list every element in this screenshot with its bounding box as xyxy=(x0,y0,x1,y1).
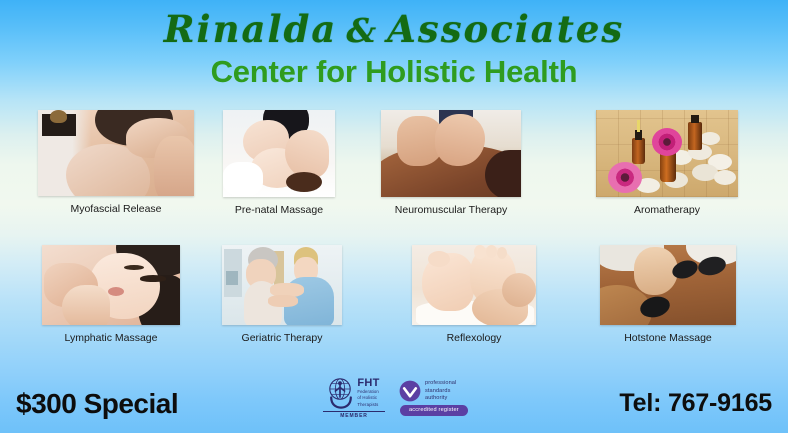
psa-line-2: standards xyxy=(425,388,456,396)
brand-name-second: Associates xyxy=(387,7,624,51)
service-card-aromatherapy[interactable]: Aromatherapy xyxy=(596,110,738,216)
brand-ampersand: & xyxy=(337,11,387,50)
psa-line-1: professional xyxy=(425,380,456,388)
services-row-2: Lymphatic Massage Geriatric Therapy xyxy=(0,239,788,374)
brand-subtitle: Center for Holistic Health xyxy=(0,53,788,92)
services-row-1: Myofascial Release Pre-natal Massage xyxy=(0,104,788,239)
fht-globe-hands-icon xyxy=(328,377,354,409)
services-grid: Myofascial Release Pre-natal Massage xyxy=(0,104,788,374)
pre-natal-massage-photo[interactable] xyxy=(223,110,335,197)
service-card-hotstone-massage[interactable]: Hotstone Massage xyxy=(600,245,736,344)
special-offer-price: $300 Special xyxy=(16,388,178,420)
brand-name-first: Rinalda xyxy=(164,7,338,51)
psa-accredited-badge: accredited register xyxy=(400,405,468,416)
service-label: Geriatric Therapy xyxy=(222,332,342,344)
reflexology-photo[interactable] xyxy=(412,245,536,325)
service-label: Pre-natal Massage xyxy=(223,204,335,216)
psa-logo: professional standards authority accredi… xyxy=(399,380,483,416)
fht-logo: FHT Federation of Holistic Therapists ME… xyxy=(318,377,390,419)
psa-checkmark-icon xyxy=(399,380,421,402)
fht-member-status: MEMBER xyxy=(340,413,368,419)
telephone-number: Tel: 767-9165 xyxy=(619,389,772,418)
service-card-neuromuscular-therapy[interactable]: Neuromuscular Therapy xyxy=(381,110,521,216)
service-card-myofascial-release[interactable]: Myofascial Release xyxy=(38,110,194,215)
fht-line-3: Therapists xyxy=(357,402,379,408)
service-card-pre-natal-massage[interactable]: Pre-natal Massage xyxy=(223,110,335,216)
service-label: Reflexology xyxy=(412,332,536,344)
geriatric-therapy-photo[interactable] xyxy=(222,245,342,325)
brand-title: Rinalda&Associates xyxy=(0,8,788,52)
service-label: Hotstone Massage xyxy=(600,332,736,344)
service-label: Neuromuscular Therapy xyxy=(381,204,521,216)
myofascial-release-photo[interactable] xyxy=(38,110,194,196)
hotstone-massage-photo[interactable] xyxy=(600,245,736,325)
footer-bar: $300 Special FH xyxy=(0,375,788,433)
service-card-lymphatic-massage[interactable]: Lymphatic Massage xyxy=(42,245,180,344)
fht-acronym: FHT xyxy=(357,378,379,389)
service-label: Lymphatic Massage xyxy=(42,332,180,344)
fht-divider xyxy=(323,411,385,412)
aromatherapy-photo[interactable] xyxy=(596,110,738,197)
lymphatic-massage-photo[interactable] xyxy=(42,245,180,325)
fht-line-2: of Holistic xyxy=(357,395,379,401)
neuromuscular-therapy-photo[interactable] xyxy=(381,110,521,197)
service-label: Myofascial Release xyxy=(38,203,194,215)
psa-line-3: authority xyxy=(425,395,456,403)
service-card-reflexology[interactable]: Reflexology xyxy=(412,245,536,344)
accreditation-logos: FHT Federation of Holistic Therapists ME… xyxy=(318,377,483,419)
page-header: Rinalda&Associates Center for Holistic H… xyxy=(0,0,788,91)
service-label: Aromatherapy xyxy=(596,204,738,216)
service-card-geriatric-therapy[interactable]: Geriatric Therapy xyxy=(222,245,342,344)
